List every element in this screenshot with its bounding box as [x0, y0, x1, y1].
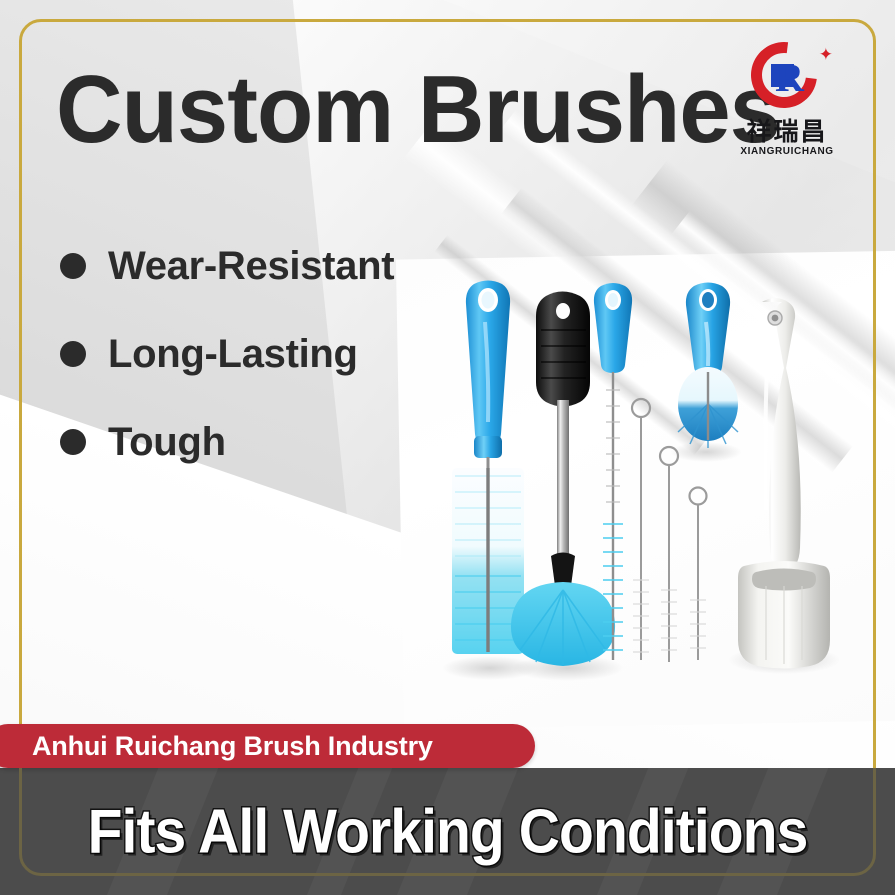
bullet-dot-icon	[60, 341, 86, 367]
promo-poster: Custom Brushes R ✦ 祥瑞昌 XIANGRUICHANG Wea…	[0, 0, 895, 895]
feature-item-long-lasting: Long-Lasting	[60, 310, 394, 398]
logo-letter-r: R	[775, 58, 802, 98]
product-blue-handle-bottle-brush	[452, 281, 524, 655]
product-wire-straw-brush-small	[690, 488, 707, 661]
feature-list: Wear-Resistant Long-Lasting Tough	[60, 222, 394, 486]
brush-head	[511, 582, 615, 666]
logo-mark-icon: R ✦	[729, 42, 845, 116]
product-shadow	[670, 442, 742, 462]
feature-label: Wear-Resistant	[108, 244, 394, 289]
bullet-dot-icon	[60, 429, 86, 455]
bullet-dot-icon	[60, 253, 86, 279]
feature-label: Long-Lasting	[108, 332, 358, 377]
logo-spark-icon: ✦	[819, 46, 833, 63]
logo-chinese-name: 祥瑞昌	[721, 119, 853, 145]
product-blue-round-ball-brush	[678, 283, 738, 449]
ball-head	[678, 367, 738, 448]
footer-tagline: Fits All Working Conditions	[36, 796, 859, 867]
product-white-silicone-toilet-brush	[738, 298, 830, 669]
product-wire-straw-brush-large	[632, 399, 650, 660]
feature-item-tough: Tough	[60, 398, 394, 486]
feature-label: Tough	[108, 420, 226, 465]
logo-pinyin: XIANGRUICHANG	[721, 146, 853, 157]
company-badge: Anhui Ruichang Brush Industry	[0, 724, 535, 768]
company-logo: R ✦ 祥瑞昌 XIANGRUICHANG	[721, 42, 853, 157]
company-badge-label: Anhui Ruichang Brush Industry	[32, 731, 433, 762]
feature-item-wear-resistant: Wear-Resistant	[60, 222, 394, 310]
page-title: Custom Brushes	[56, 62, 780, 158]
footer-banner: Fits All Working Conditions	[0, 768, 895, 895]
product-wire-straw-brush-medium	[660, 447, 678, 662]
